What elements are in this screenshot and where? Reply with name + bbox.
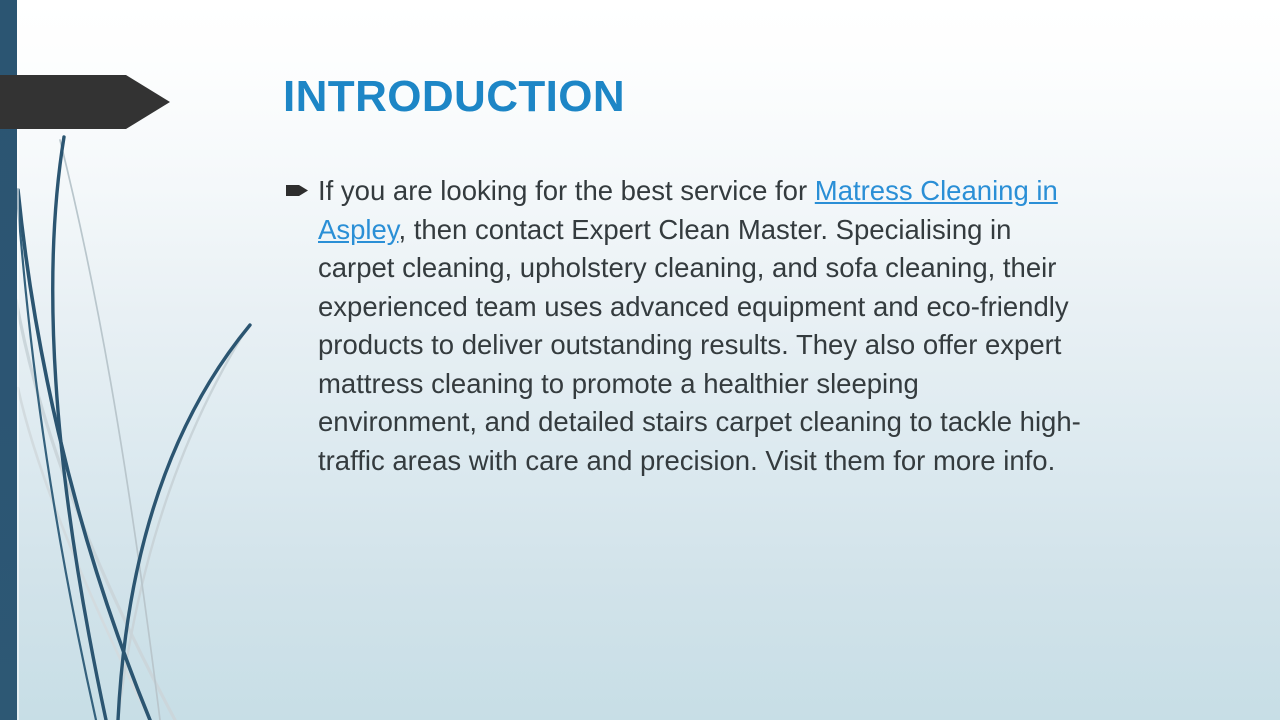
body-content: If you are looking for the best service … — [284, 172, 1084, 480]
bullet-text-after: , then contact Expert Clean Master. Spec… — [318, 214, 1081, 476]
bullet-paragraph: If you are looking for the best service … — [318, 172, 1084, 480]
reed-dark-3 — [118, 325, 250, 720]
title-chevron-banner — [0, 75, 170, 129]
reed-dark-1 — [53, 137, 106, 720]
slide-canvas: INTRODUCTION If you are looking for the … — [0, 0, 1280, 720]
reed-light-2 — [18, 388, 150, 720]
arrow-bullet-icon — [286, 185, 308, 196]
reed-light-1 — [16, 300, 175, 720]
page-title: INTRODUCTION — [283, 72, 625, 122]
reed-light-4 — [60, 140, 160, 720]
bullet-text-before: If you are looking for the best service … — [318, 175, 815, 206]
reed-dark-2 — [18, 190, 150, 720]
list-item: If you are looking for the best service … — [284, 172, 1084, 480]
reed-light-3 — [118, 328, 247, 720]
reed-dark-4 — [17, 196, 96, 720]
